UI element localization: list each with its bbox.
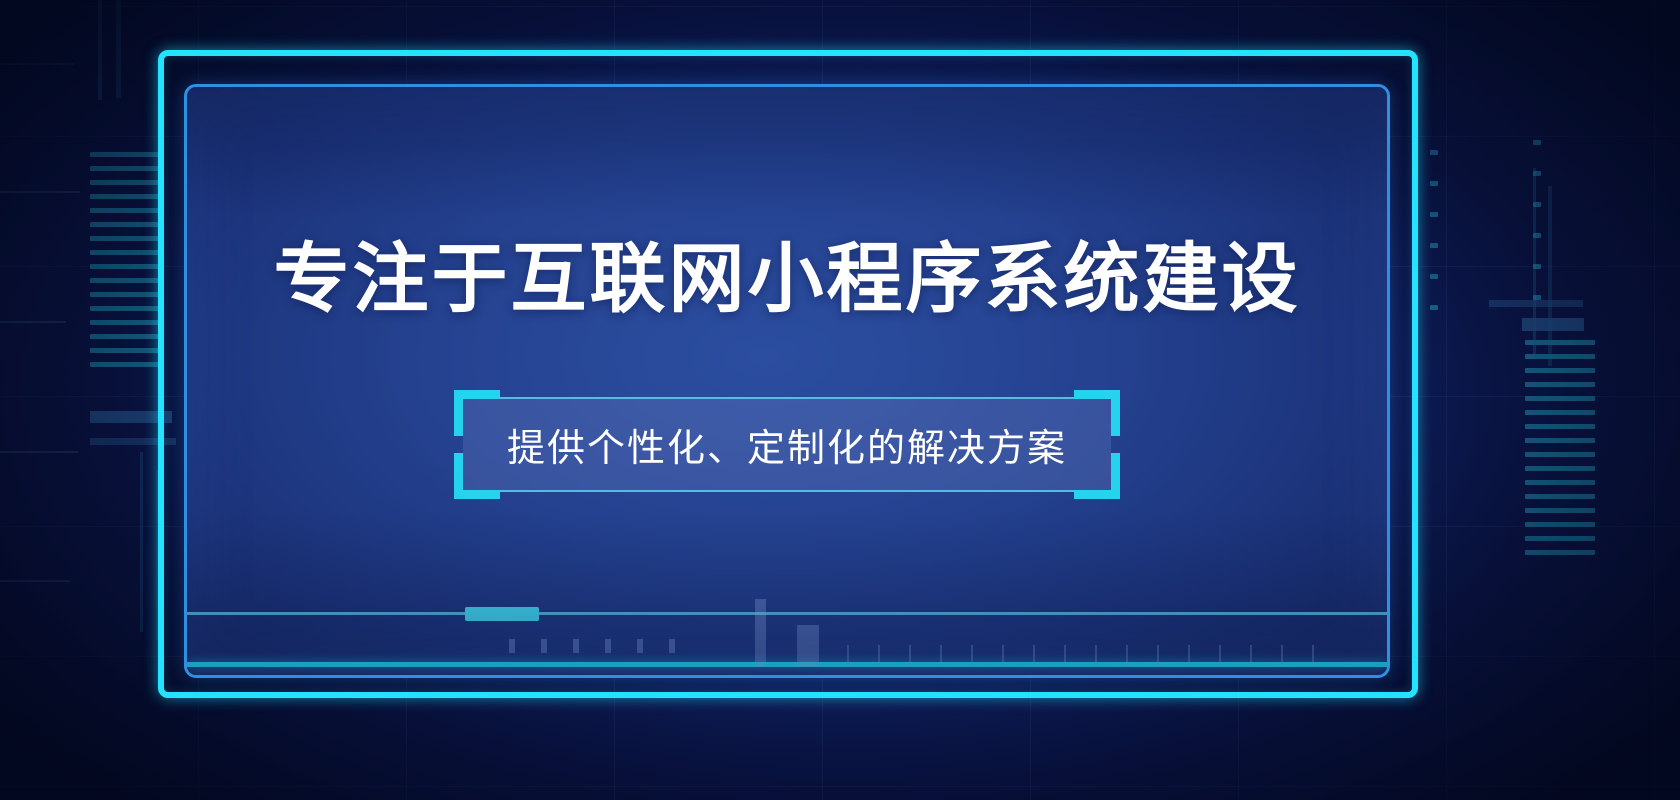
banner-stage: 专注于互联网小程序系统建设 提供个性化、定制化的解决方案 [0,0,1680,800]
accent-stroke-right-2 [1548,186,1552,366]
tick-ladder-right [1525,340,1595,555]
subtitle-rule-top [463,397,1111,399]
accent-stroke-right-1 [1533,168,1536,358]
stub-right-2 [1522,318,1584,331]
corner-bracket-bottom-right-icon [1074,453,1120,499]
page-title: 专注于互联网小程序系统建设 [274,238,1301,322]
page-subtitle: 提供个性化、定制化的解决方案 [507,417,1067,472]
left-separator-3 [0,321,66,323]
left-separator-2 [0,191,80,193]
accent-stroke-left-1 [98,0,102,100]
stub-right-1 [1489,300,1583,307]
tick-ladder-left [90,152,160,367]
dot-column-inner-right [1430,150,1438,310]
left-separator-1 [0,63,74,65]
accent-stroke-left-2 [116,0,121,98]
subtitle-bracket-box: 提供个性化、定制化的解决方案 [463,399,1111,490]
subtitle-rule-bottom [463,490,1111,492]
banner-content: 专注于互联网小程序系统建设 提供个性化、定制化的解决方案 [187,87,1387,675]
inner-panel: 专注于互联网小程序系统建设 提供个性化、定制化的解决方案 [184,84,1390,678]
dot-column-right [1533,140,1541,300]
left-separator-4 [0,451,78,453]
accent-stroke-left-3 [140,452,143,632]
corner-bracket-bottom-left-icon [454,453,500,499]
left-separator-5 [0,580,70,582]
